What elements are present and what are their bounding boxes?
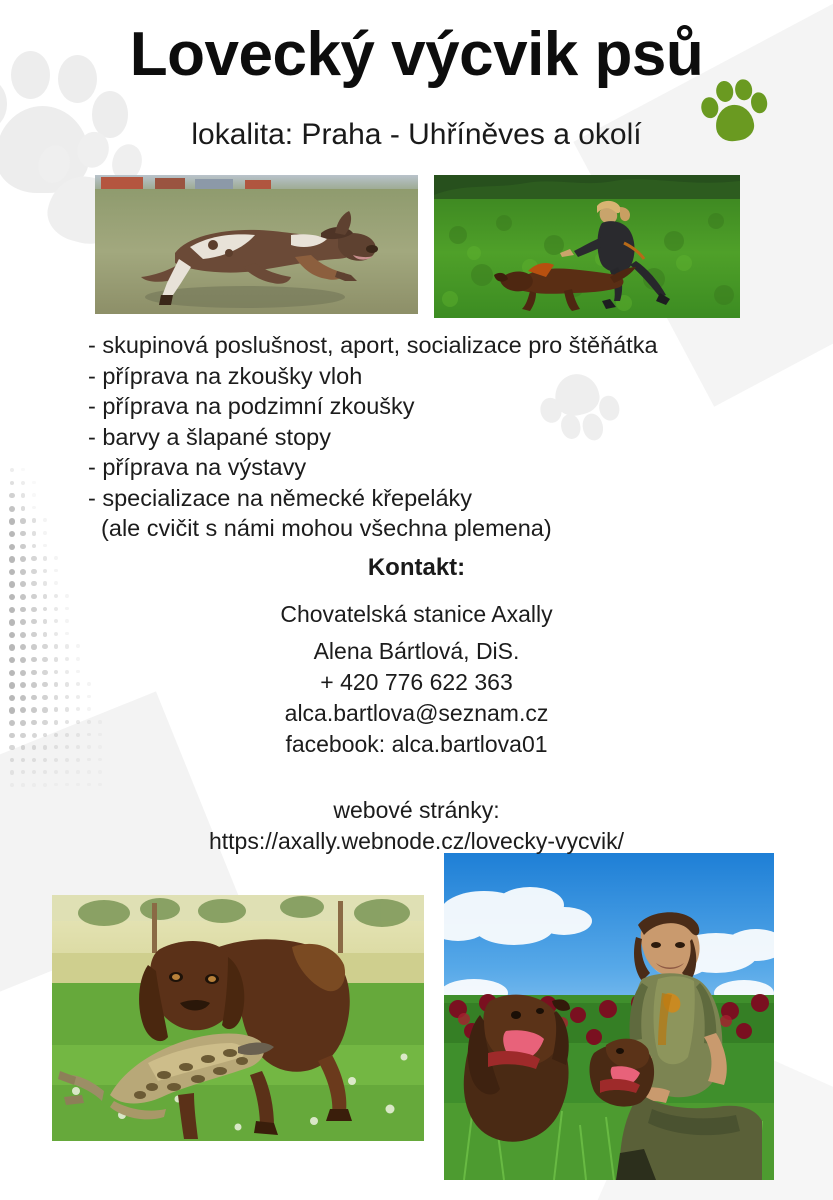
photo-portrait-art (444, 853, 774, 1180)
service-item: - příprava na zkoušky vloh (88, 361, 658, 392)
dot (32, 544, 37, 549)
website-block: webové stránky: https://axally.webnode.c… (0, 795, 833, 857)
service-item: - specializace na německé křepeláky (88, 483, 658, 514)
photo-retrieve (52, 895, 424, 1141)
contact-block: Kontakt: Chovatelská stanice Axally Alen… (0, 554, 833, 857)
dot (20, 544, 25, 549)
contact-person: Alena Bártlová, DiS. (0, 636, 833, 667)
poster: Lovecký výcvik psů lokalita: Praha - Uhř… (0, 0, 833, 1200)
website-label: webové stránky: (0, 795, 833, 826)
dot (9, 518, 15, 524)
dot (9, 506, 15, 512)
dot (10, 481, 15, 486)
dot (20, 531, 25, 536)
photo-running-dog-art (95, 175, 418, 314)
photo-running-dog (95, 175, 418, 314)
photo-field-run-art (434, 175, 740, 318)
dot (32, 493, 36, 497)
dot (10, 468, 14, 472)
contact-facebook[interactable]: facebook: alca.bartlova01 (0, 729, 833, 760)
service-item: (ale cvičit s námi mohou všechna plemena… (88, 513, 658, 544)
dot (32, 531, 37, 536)
dot (20, 518, 25, 523)
contact-kennel: Chovatelská stanice Axally (0, 599, 833, 630)
services-list: - skupinová poslušnost, aport, socializa… (88, 330, 658, 544)
page-title: Lovecký výcvik psů (0, 22, 833, 87)
dot (43, 531, 47, 535)
contact-phone[interactable]: + 420 776 622 363 (0, 667, 833, 698)
dot (21, 506, 26, 511)
dot (9, 493, 14, 498)
photo-field-run (434, 175, 740, 318)
dot (43, 518, 47, 522)
contact-email[interactable]: alca.bartlova@seznam.cz (0, 698, 833, 729)
page-subtitle: lokalita: Praha - Uhříněves a okolí (0, 118, 833, 152)
photo-retrieve-art (52, 895, 424, 1141)
website-url[interactable]: https://axally.webnode.cz/lovecky-vycvik… (0, 826, 833, 857)
dot (21, 468, 24, 471)
photo-portrait (444, 853, 774, 1180)
contact-heading: Kontakt: (0, 554, 833, 582)
service-item: - barvy a šlapané stopy (88, 422, 658, 453)
dot (32, 481, 35, 484)
dot (21, 481, 25, 485)
dot (43, 544, 47, 548)
service-item: - příprava na podzimní zkoušky (88, 391, 658, 422)
dot (32, 506, 36, 510)
dot (32, 518, 37, 523)
dot (9, 544, 15, 550)
service-item: - příprava na výstavy (88, 452, 658, 483)
service-item: - skupinová poslušnost, aport, socializa… (88, 330, 658, 361)
dot (21, 493, 25, 497)
dot (9, 531, 15, 537)
